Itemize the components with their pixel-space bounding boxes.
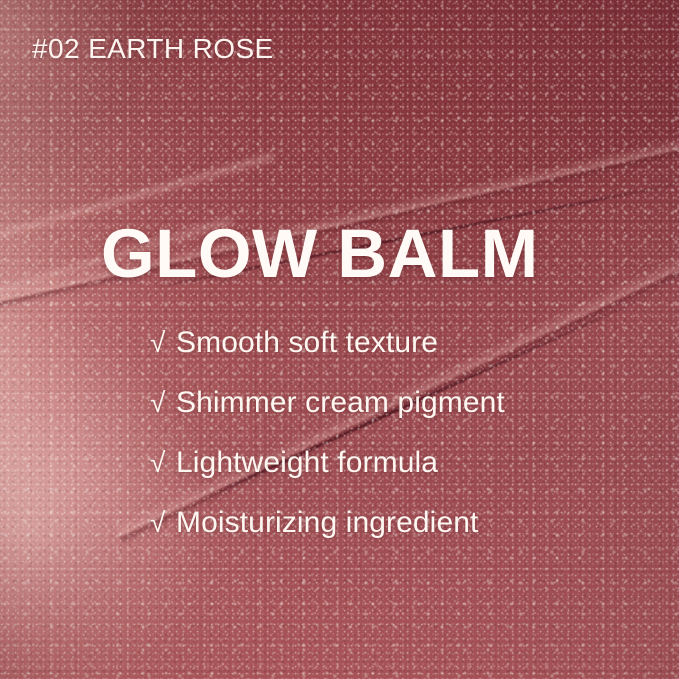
feature-item-3: √ Moisturizing ingredient — [150, 506, 505, 566]
checkmark-icon: √ — [150, 507, 176, 539]
feature-label: Lightweight formula — [176, 446, 438, 480]
banner-content: #02 EARTH ROSE GLOW BALM √ Smooth soft t… — [0, 0, 679, 679]
feature-label: Smooth soft texture — [176, 326, 438, 360]
feature-item-2: √ Lightweight formula — [150, 446, 505, 506]
checkmark-icon: √ — [150, 387, 176, 419]
feature-item-1: √ Shimmer cream pigment — [150, 386, 505, 446]
feature-label: Shimmer cream pigment — [176, 386, 505, 420]
feature-item-0: √ Smooth soft texture — [150, 326, 505, 386]
shade-code-label: #02 EARTH ROSE — [32, 33, 274, 65]
product-title: GLOW BALM — [101, 219, 539, 288]
product-banner: #02 EARTH ROSE GLOW BALM √ Smooth soft t… — [0, 0, 679, 679]
checkmark-icon: √ — [150, 327, 176, 359]
feature-list: √ Smooth soft texture √ Shimmer cream pi… — [150, 326, 505, 566]
feature-label: Moisturizing ingredient — [176, 506, 478, 540]
checkmark-icon: √ — [150, 447, 176, 479]
